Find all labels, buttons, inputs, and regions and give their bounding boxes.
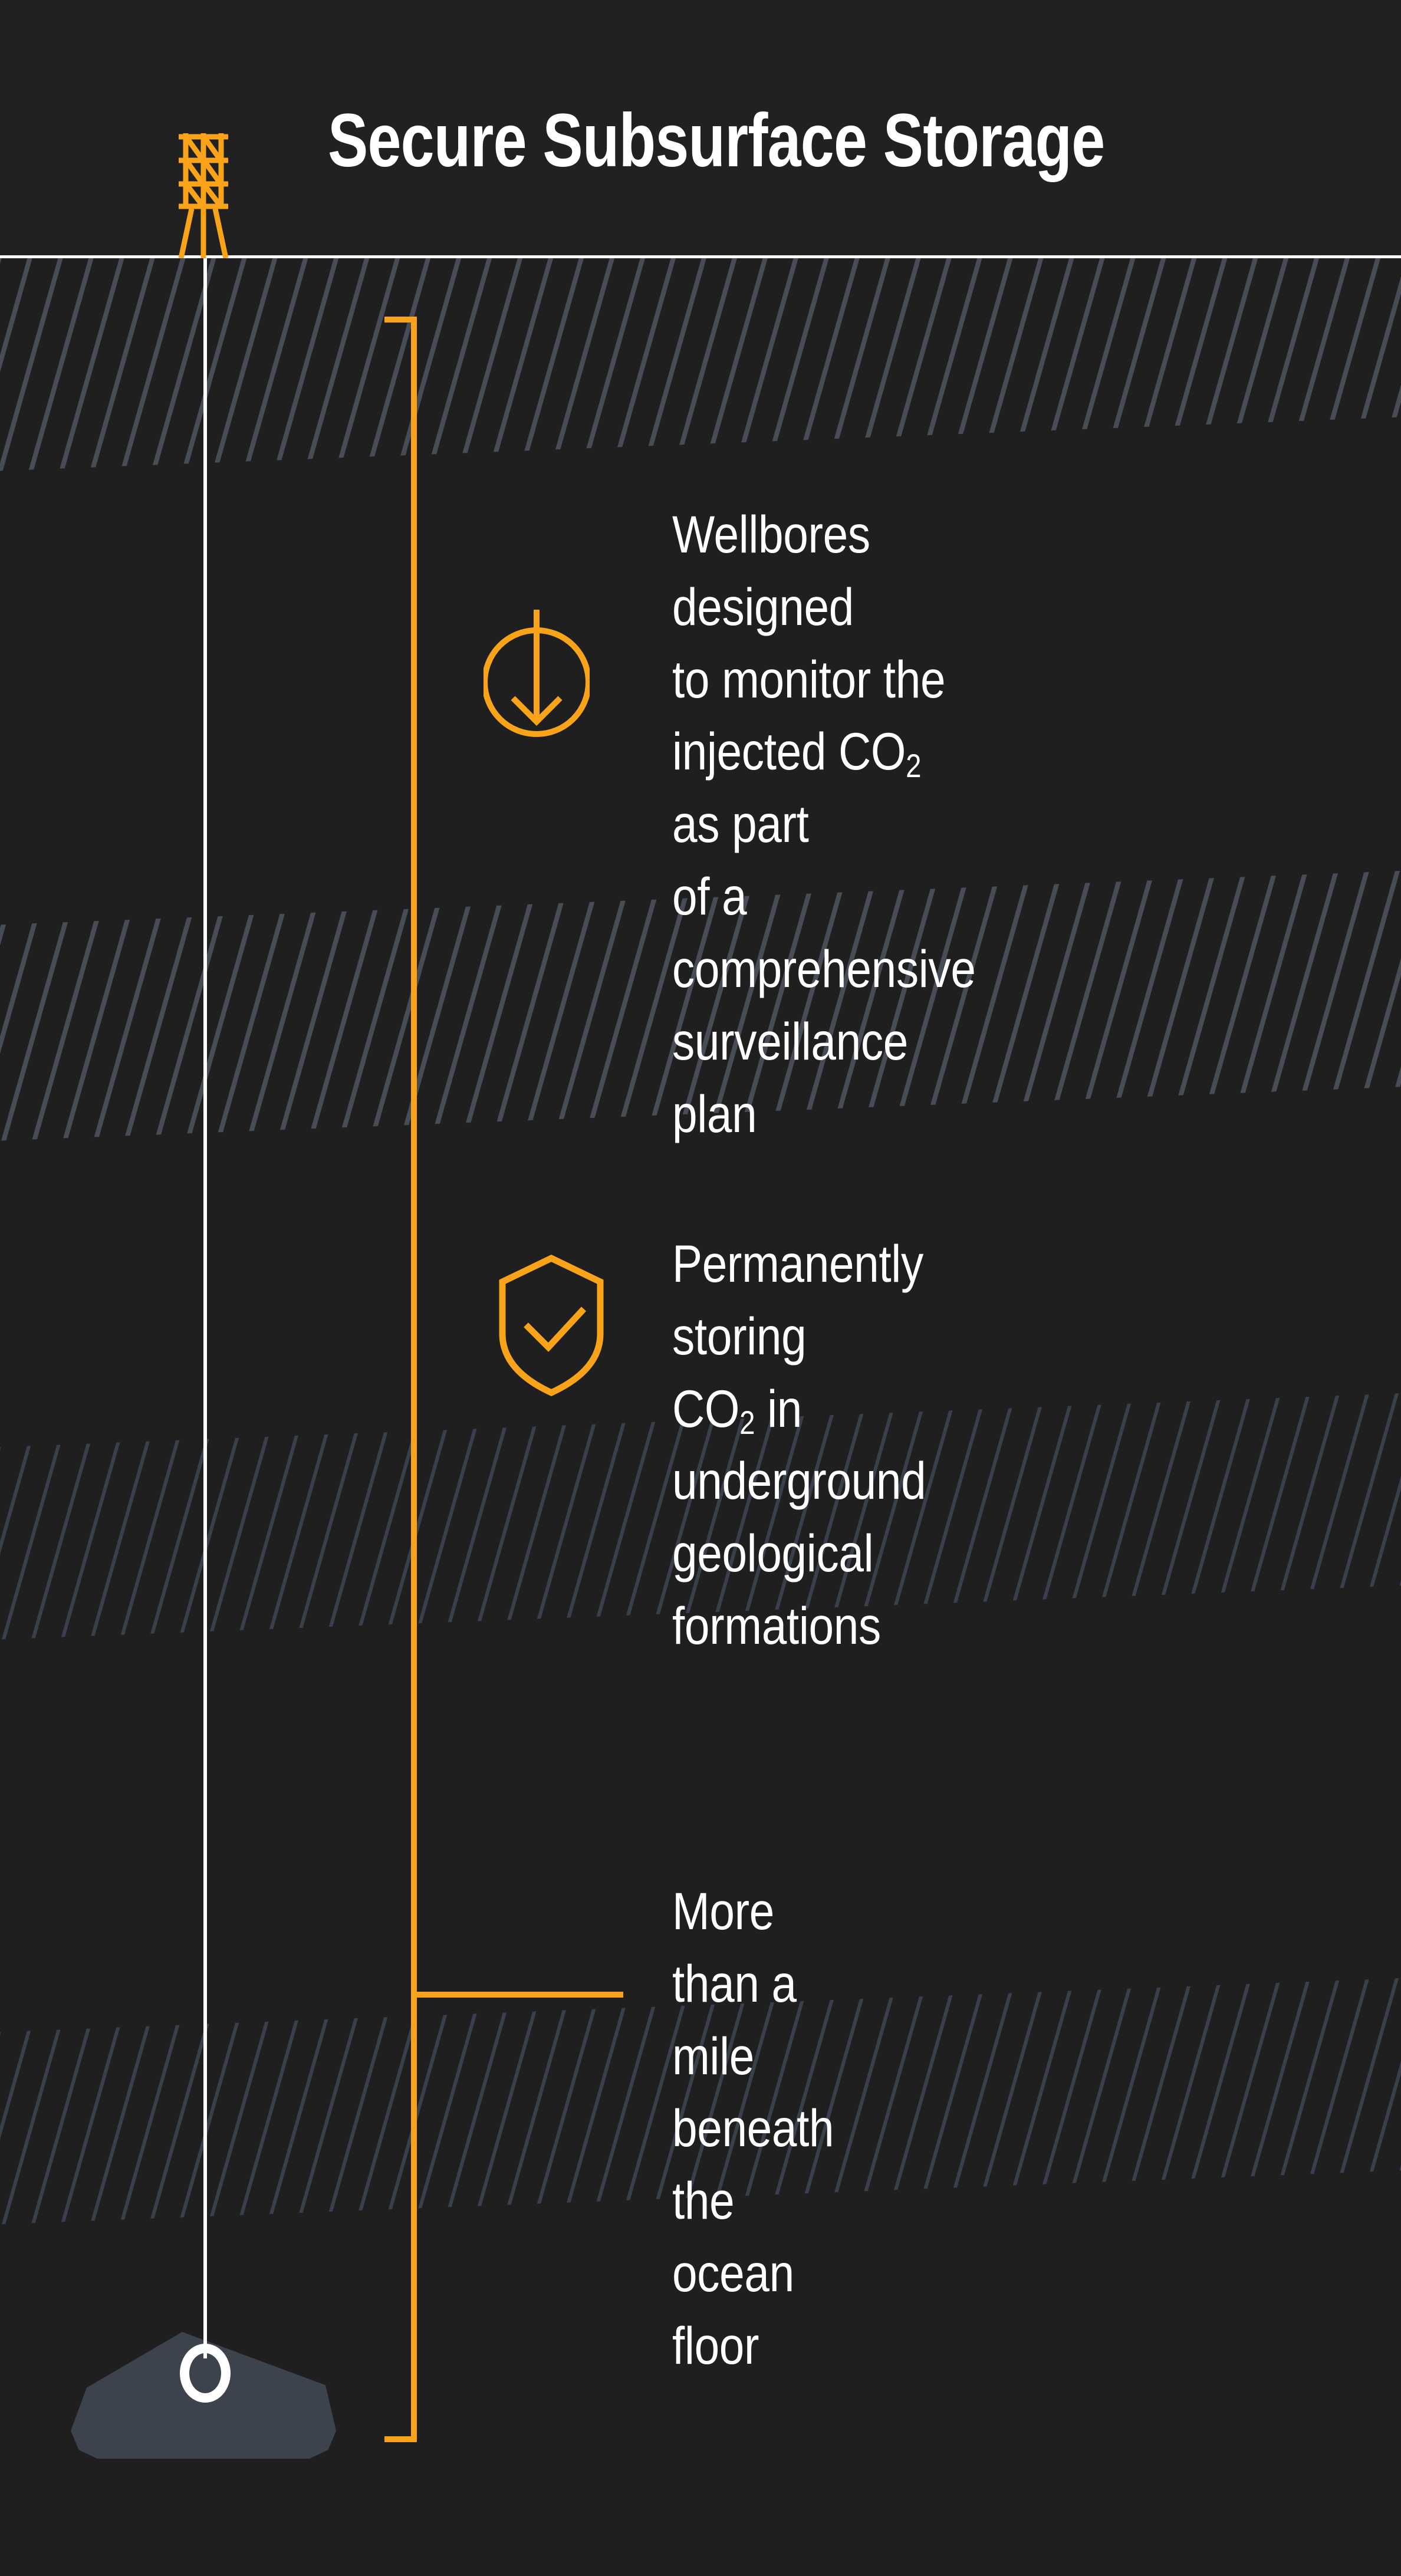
callout-2-co2-subscript: 2 (739, 1404, 755, 1441)
wellbore-casing (203, 136, 207, 2358)
rig-svg (156, 129, 251, 258)
downward-injection-arrow-icon (484, 597, 590, 747)
callout-2-line-2: CO2 in underground (672, 1379, 926, 1511)
callout-1-line-2: to monitor the (672, 650, 945, 709)
callout-2-text: Permanently storing CO2 in underground g… (672, 1228, 926, 1662)
depth-bracket-stem (411, 317, 417, 2442)
depth-bracket-bottom-tick (384, 2436, 417, 2442)
depth-bracket-top-tick (384, 317, 417, 323)
callout-3-text: More than a mile beneath the ocean floor (672, 1875, 834, 2382)
callout-3-line-1: More than a (672, 1881, 797, 2013)
callout-1-co2-subscript: 2 (906, 748, 921, 784)
callout-2-line-1: Permanently storing (672, 1234, 923, 1366)
offshore-drilling-rig-icon (156, 129, 251, 258)
page-title: Secure Subsurface Storage (328, 103, 1104, 179)
callout-1-line-5: surveillance plan (672, 1012, 908, 1143)
callout-1-line-4: of a comprehensive (672, 867, 976, 998)
wellbore-terminus-icon (180, 2344, 231, 2403)
callout-1-text: Wellbores designed to monitor the inject… (672, 498, 976, 1150)
callout-1-line-3: injected CO2 as part (672, 722, 921, 853)
strata-band-1 (0, 256, 1401, 475)
shield-check-icon (495, 1251, 607, 1401)
arrow-in-circle-svg (484, 597, 590, 744)
callout-1-line-1: Wellbores designed (672, 505, 870, 636)
callout-3-line-3: ocean floor (672, 2243, 794, 2375)
callout-1-line-3-b: as part (672, 794, 809, 853)
callout-2-line-3: geological formations (672, 1524, 881, 1655)
infographic-canvas: Secure Subsurface Storage (0, 0, 1401, 2576)
depth-bracket-leader-line (411, 1992, 623, 1998)
callout-3-line-2: mile beneath the (672, 2026, 834, 2230)
shield-check-svg (495, 1251, 607, 1399)
callout-1-line-3-a: injected CO (672, 722, 906, 781)
callout-2-line-2-a: CO (672, 1379, 739, 1438)
